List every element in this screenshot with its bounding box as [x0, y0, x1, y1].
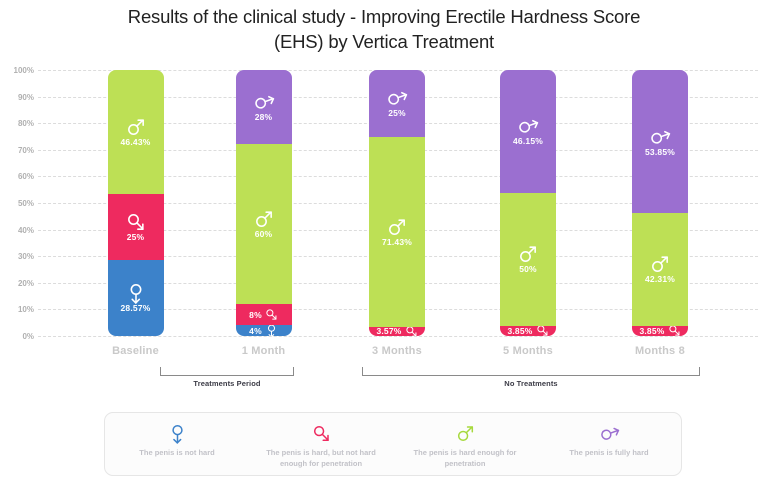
bar-segment-value: 46.15% — [513, 136, 543, 146]
mars-symbol-right-icon — [312, 422, 331, 444]
y-axis-tick-label: 40% — [0, 226, 34, 235]
bar-segment-value: 4% — [249, 326, 262, 336]
bar-segment-value: 3.85% — [507, 326, 532, 336]
bar-segment[interactable]: 71.43% — [369, 137, 425, 327]
bar-segment[interactable]: 25% — [369, 70, 425, 137]
bar-stack[interactable]: 3.57%71.43%25% — [369, 70, 425, 336]
y-axis-tick-label: 90% — [0, 93, 34, 102]
bar-stack[interactable]: 3.85%42.31%53.85% — [632, 70, 688, 336]
legend-item-label: The penis is not hard — [133, 447, 220, 458]
y-axis-tick-label: 70% — [0, 146, 34, 155]
bar-stack[interactable]: 4%8%60%28% — [236, 70, 292, 336]
bar-segment-value: 3.57% — [376, 327, 401, 336]
legend-item-label: The penis is fully hard — [563, 447, 654, 458]
mars-symbol-down-icon — [126, 283, 146, 303]
y-axis-tick-label: 20% — [0, 279, 34, 288]
y-axis-tick-label: 30% — [0, 252, 34, 261]
x-axis-label-5-months: 5 Months — [468, 345, 588, 357]
mars-symbol-diagonal-icon — [650, 254, 670, 274]
bar-segment[interactable]: 53.85% — [632, 70, 688, 213]
x-axis-label-3-months: 3 Months — [337, 345, 457, 357]
mars-symbol-diagonal-icon — [456, 422, 475, 444]
bar-segment-value: 3.85% — [639, 326, 664, 336]
y-axis-tick-label: 50% — [0, 199, 34, 208]
legend-item-3[interactable]: The penis is fully hard — [537, 413, 681, 458]
bar-segment-value: 28% — [255, 112, 273, 122]
legend-item-2[interactable]: The penis is hard enough for penetration — [393, 413, 537, 469]
bar-segment[interactable]: 25% — [108, 194, 164, 261]
bar-segment[interactable]: 8% — [236, 304, 292, 325]
mars-symbol-right-icon — [405, 327, 418, 336]
bar-segment[interactable]: 60% — [236, 144, 292, 304]
bar-stack[interactable]: 3.85%50%46.15% — [500, 70, 556, 336]
mars-symbol-up-icon — [600, 422, 619, 444]
bar-segment-value: 42.31% — [645, 274, 675, 284]
x-axis-label-baseline: Baseline — [76, 345, 196, 357]
y-axis-tick-label: 100% — [0, 66, 34, 75]
bar-segment-value: 25% — [388, 108, 406, 118]
bar-segment-value: 46.43% — [120, 137, 150, 147]
bar-segment[interactable]: 3.57% — [369, 327, 425, 336]
gridline — [38, 336, 758, 337]
y-axis-tick-label: 10% — [0, 305, 34, 314]
bar-segment[interactable]: 28.57% — [108, 260, 164, 336]
bar-segment[interactable]: 4% — [236, 325, 292, 336]
legend-item-label: The penis is hard, but not hard enough f… — [249, 447, 393, 469]
mars-symbol-diagonal-icon — [518, 244, 538, 264]
y-axis-tick-label: 60% — [0, 172, 34, 181]
bar-segment[interactable]: 46.43% — [108, 70, 164, 194]
legend-item-label: The penis is hard enough for penetration — [393, 447, 537, 469]
mars-symbol-diagonal-icon — [387, 217, 407, 237]
bar-stack[interactable]: 28.57%25%46.43% — [108, 70, 164, 336]
mars-symbol-up-icon — [518, 116, 538, 136]
mars-symbol-right-icon — [536, 326, 549, 336]
mars-symbol-down-icon — [168, 422, 187, 444]
x-axis-label-months-8: Months 8 — [600, 345, 720, 357]
bar-segment[interactable]: 42.31% — [632, 213, 688, 326]
y-axis-tick-label: 80% — [0, 119, 34, 128]
legend-item-0[interactable]: The penis is not hard — [105, 413, 249, 458]
bar-segment-value: 25% — [127, 232, 145, 242]
mars-symbol-up-icon — [254, 92, 274, 112]
legend-item-1[interactable]: The penis is hard, but not hard enough f… — [249, 413, 393, 469]
mars-symbol-down-icon — [265, 325, 278, 336]
bracket-treatments — [160, 367, 294, 376]
mars-symbol-right-icon — [126, 212, 146, 232]
chart-plot-area: 0%10%20%30%40%50%60%70%80%90%100% 28.57%… — [0, 0, 768, 360]
mars-symbol-right-icon — [668, 326, 681, 336]
mars-symbol-diagonal-icon — [254, 209, 274, 229]
bar-segment-value: 71.43% — [382, 237, 412, 247]
bracket-label-no_treatments: No Treatments — [362, 379, 700, 388]
y-axis-tick-label: 0% — [0, 332, 34, 341]
bar-segment[interactable]: 28% — [236, 70, 292, 144]
bar-segment[interactable]: 3.85% — [500, 326, 556, 336]
bracket-no_treatments — [362, 367, 700, 376]
mars-symbol-diagonal-icon — [126, 117, 146, 137]
legend: The penis is not hardThe penis is hard, … — [104, 412, 682, 476]
bracket-label-treatments: Treatments Period — [160, 379, 294, 388]
bar-segment-value: 60% — [255, 229, 273, 239]
bar-segment-value: 8% — [249, 310, 262, 320]
mars-symbol-up-icon — [650, 127, 670, 147]
x-axis-label-1-month: 1 Month — [204, 345, 324, 357]
mars-symbol-up-icon — [387, 88, 407, 108]
bar-segment[interactable]: 50% — [500, 193, 556, 326]
bar-segment[interactable]: 3.85% — [632, 326, 688, 336]
mars-symbol-right-icon — [265, 308, 278, 321]
bar-segment[interactable]: 46.15% — [500, 70, 556, 193]
bar-segment-value: 50% — [519, 264, 537, 274]
